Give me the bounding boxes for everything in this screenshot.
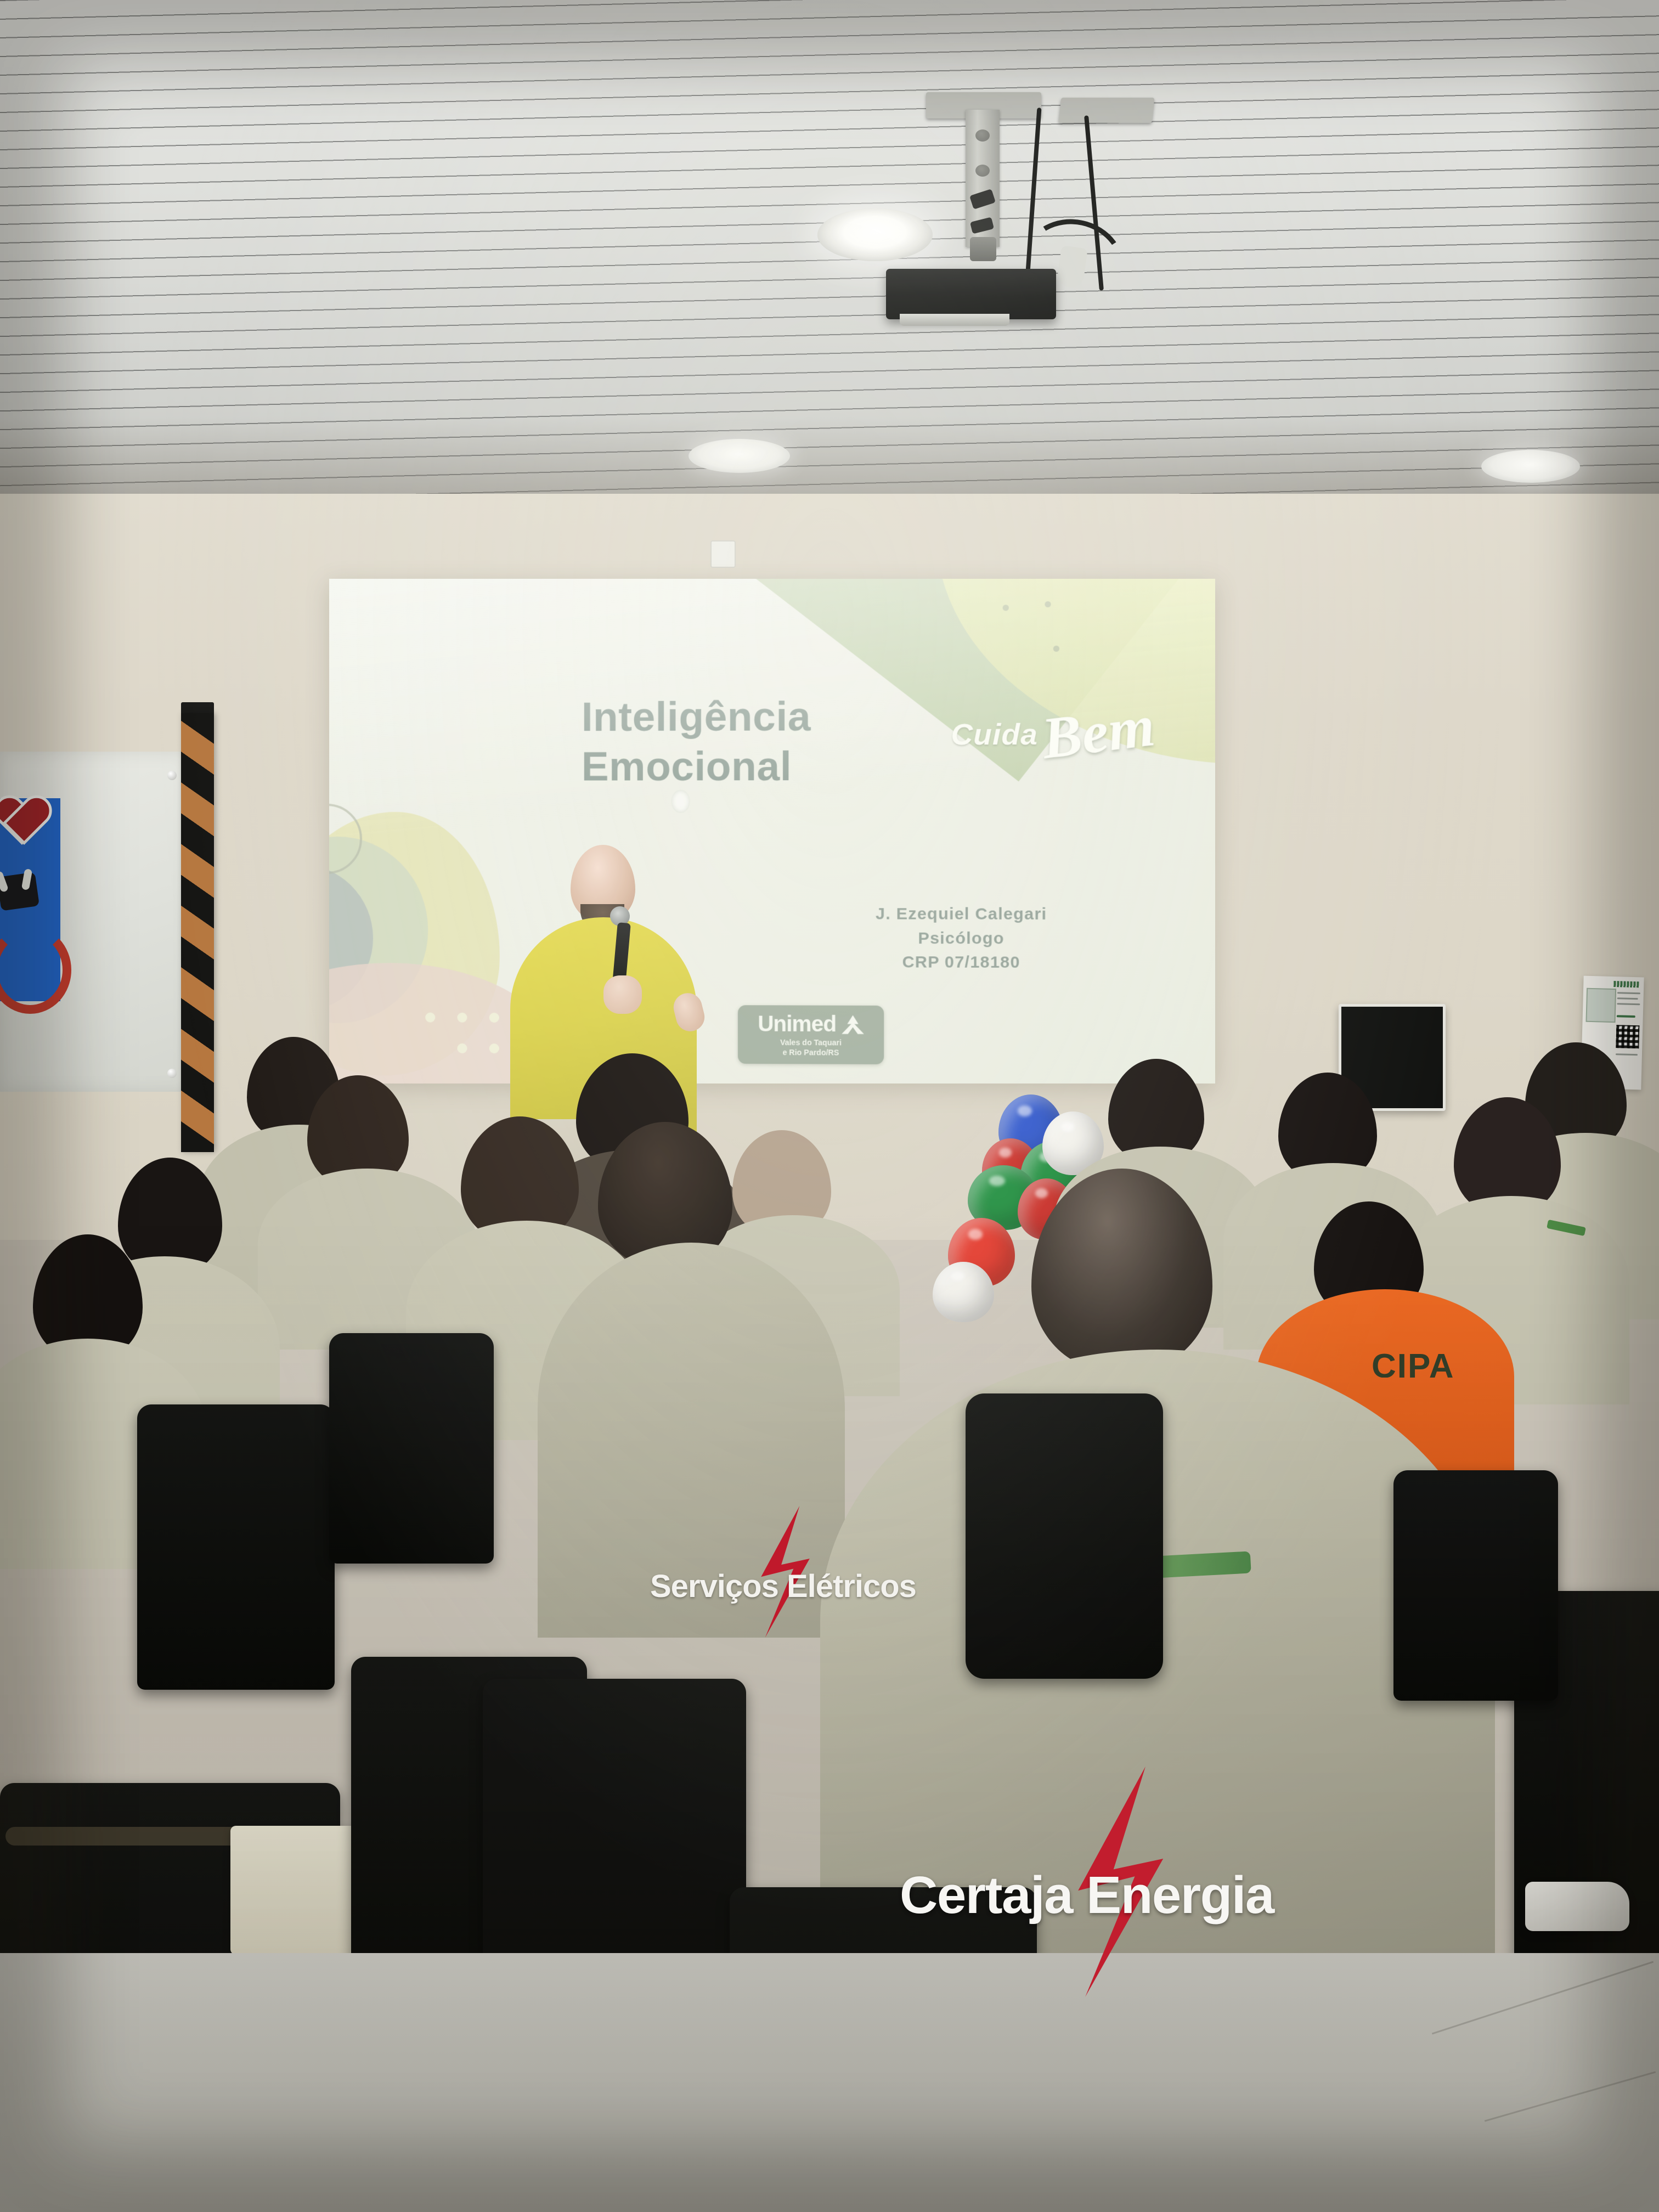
chair bbox=[1393, 1470, 1558, 1701]
floor bbox=[0, 1953, 1659, 2212]
projector-joint bbox=[970, 237, 996, 261]
projector-lens bbox=[900, 314, 1009, 326]
projector-pole bbox=[966, 110, 1000, 247]
stethoscope-icon bbox=[0, 871, 60, 997]
ceiling-light-left bbox=[689, 439, 790, 473]
projection-screen: Cuida Bem Inteligência Emocional J. Ezeq… bbox=[329, 579, 1215, 1084]
poster-logo bbox=[1613, 981, 1639, 988]
orange-shirt-text: CIPA bbox=[1372, 1347, 1591, 1378]
shirt-text-servicos-eletricos: Serviços Elétricos bbox=[650, 1568, 946, 1605]
poster-illustration bbox=[1586, 988, 1617, 1023]
ceiling-light-main bbox=[817, 208, 933, 261]
wall-outlet bbox=[710, 540, 736, 568]
shirt-text-certaja-energia: Certaja Energia bbox=[900, 1865, 1448, 1926]
chair bbox=[329, 1333, 494, 1564]
projector-body bbox=[886, 269, 1056, 319]
hazard-column bbox=[181, 713, 214, 1152]
chair bbox=[966, 1393, 1163, 1679]
qr-code-icon bbox=[1616, 1025, 1639, 1048]
shoe bbox=[1525, 1882, 1629, 1931]
cable-mount-plate bbox=[1059, 98, 1155, 123]
whiteboard-screw-bottom bbox=[167, 1069, 177, 1078]
whiteboard-screw-top bbox=[167, 771, 177, 780]
chair bbox=[137, 1404, 335, 1690]
speaker-hand bbox=[603, 975, 642, 1014]
balloon-white-front bbox=[933, 1262, 994, 1322]
heart-icon bbox=[0, 797, 53, 849]
photo-scene: Cuida Bem Inteligência Emocional J. Ezeq… bbox=[0, 0, 1659, 2212]
ceiling-light-right bbox=[1481, 450, 1580, 483]
